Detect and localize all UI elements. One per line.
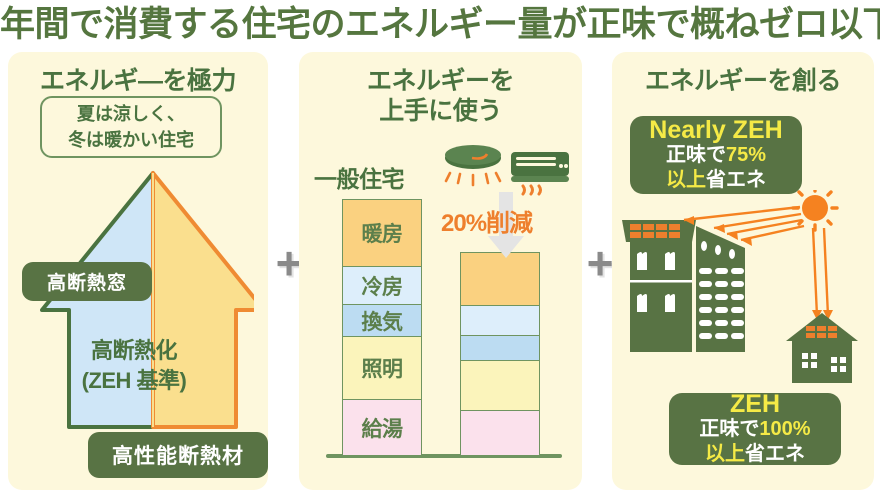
zeh-line3-hl: 以上	[705, 443, 745, 465]
segment-cooling-reduced	[460, 305, 540, 337]
segment-ventilation-reduced	[460, 335, 540, 361]
tag-high-insulation-window: 高断熱窓	[22, 262, 152, 301]
comfort-note-line2: 冬は暖かい住宅	[68, 127, 194, 153]
panel3-heading: エネルギーを創る	[612, 66, 874, 96]
sun-icon	[793, 190, 837, 230]
bar-reduced-house	[460, 254, 540, 456]
nearly-zeh-line3-post: 省エネ	[706, 169, 766, 191]
zeh-title: ZEH	[730, 391, 780, 417]
nearly-zeh-percent: 75%	[726, 144, 766, 166]
segment-heating-reduced	[460, 252, 540, 306]
zeh-line3: 以上省エネ	[705, 442, 805, 467]
nearly-zeh-title: Nearly ZEH	[649, 117, 782, 143]
segment-heating: 暖房	[342, 199, 422, 267]
general-house-label: 一般住宅	[314, 160, 404, 194]
segment-lighting: 照明	[342, 336, 422, 401]
ceiling-light-icon	[442, 143, 504, 187]
panel1-heading-line1: エネルギ—を極力	[8, 66, 268, 96]
zeh-house-icon	[786, 313, 858, 383]
arrow-right-half	[153, 173, 254, 427]
air-conditioner-icon	[509, 150, 571, 196]
reduction-label: 20%削減	[441, 203, 532, 238]
segment-lighting-reduced	[460, 360, 540, 412]
zeh-percent: 100%	[759, 418, 810, 440]
segment-cooling: 冷房	[342, 266, 422, 306]
page-title: 年間で消費する住宅のエネルギー量が正味で概ねゼロ以下	[0, 2, 880, 50]
building-left-icon	[622, 220, 696, 352]
panel2-heading-line1: エネルギーを	[299, 66, 582, 96]
nearly-zeh-badge: Nearly ZEH 正味で75% 以上省エネ	[630, 116, 802, 194]
zeh-line2: 正味で100%	[699, 417, 810, 442]
zeh-badge: ZEH 正味で100% 以上省エネ	[669, 393, 841, 465]
comfort-note-line1: 夏は涼しく、	[77, 101, 185, 127]
zeh-line3-post: 省エネ	[745, 443, 805, 465]
panel2-heading: エネルギーを 上手に使う	[299, 66, 582, 126]
infographic-root: 年間で消費する住宅のエネルギー量が正味で概ねゼロ以下 エネルギ—を極力 必要とし…	[0, 0, 880, 495]
panel2-heading-line2: 上手に使う	[299, 96, 582, 126]
nearly-zeh-line2: 正味で75%	[666, 143, 766, 168]
segment-hotwater: 給湯	[342, 399, 422, 456]
tag-high-performance-insulation: 高性能断熱材	[88, 432, 268, 478]
solar-buildings-illustration	[612, 190, 874, 400]
comfort-note-box: 夏は涼しく、 冬は暖かい住宅	[40, 96, 222, 158]
segment-hotwater-reduced	[460, 410, 540, 456]
zeh-line2-pre: 正味で	[699, 418, 759, 440]
nearly-zeh-line3-hl: 以上	[666, 169, 706, 191]
nearly-zeh-line3: 以上省エネ	[666, 168, 766, 193]
nearly-zeh-line2-pre: 正味で	[666, 144, 726, 166]
panel3-heading-line1: エネルギーを創る	[612, 66, 874, 96]
bar-general-house: 暖房 冷房 換気 照明 給湯	[342, 201, 422, 456]
segment-ventilation: 換気	[342, 304, 422, 337]
building-right-icon	[696, 226, 745, 352]
